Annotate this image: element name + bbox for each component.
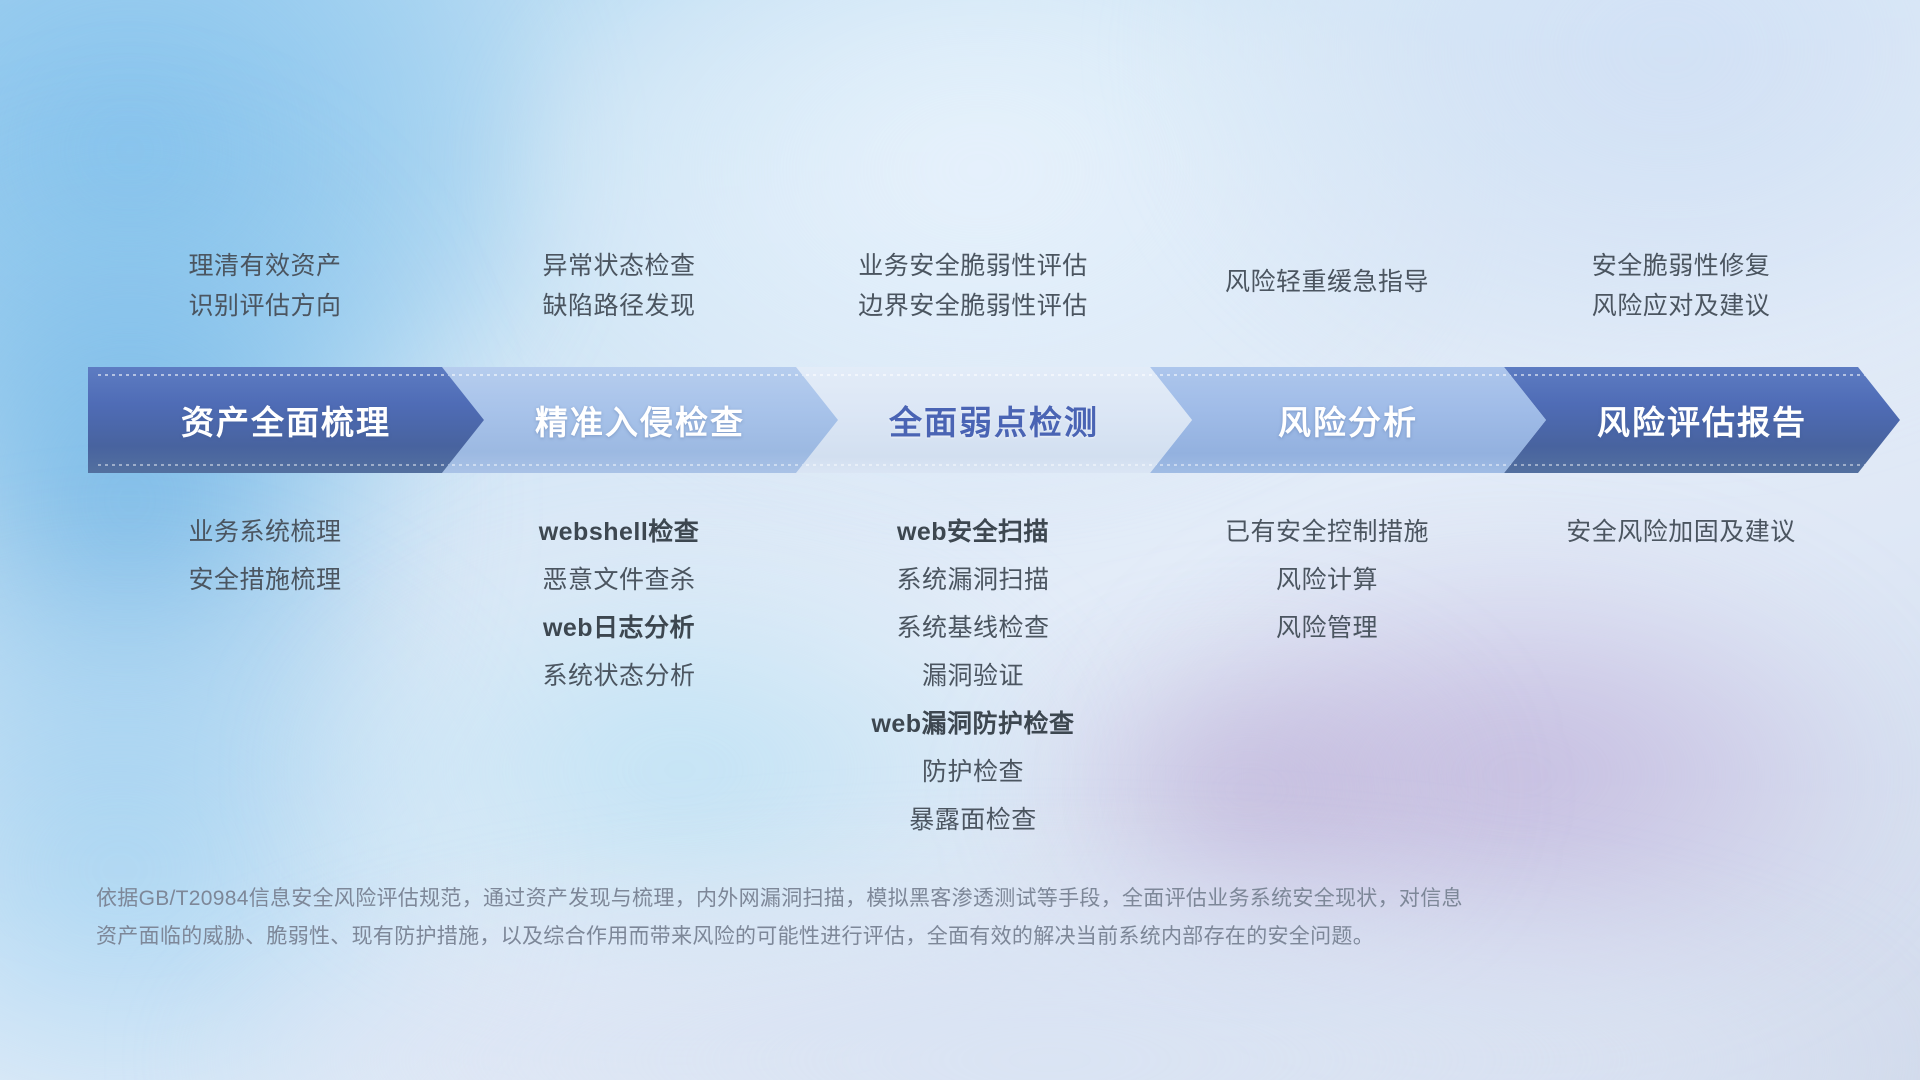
footer-line-2: 资产面临的威胁、脆弱性、现有防护措施，以及综合作用而带来风险的可能性进行评估，全…: [96, 918, 1696, 956]
chevron-label-risk-analysis: 风险分析: [1278, 396, 1418, 444]
top-items-asset-inventory: 理清有效资产识别评估方向: [88, 246, 442, 326]
chevron-label-asset-inventory: 资产全面梳理: [181, 396, 391, 444]
top-item: 识别评估方向: [88, 286, 442, 326]
bottom-item: 已有安全控制措施: [1150, 508, 1504, 556]
top-item: 边界安全脆弱性评估: [796, 286, 1150, 326]
chevron-label-assessment-report: 风险评估报告: [1597, 396, 1807, 444]
top-item: 风险应对及建议: [1504, 286, 1858, 326]
bottom-items-asset-inventory: 业务系统梳理安全措施梳理: [88, 508, 442, 604]
chevron-stage-weakness-detection[interactable]: 全面弱点检测: [796, 367, 1192, 473]
top-item: 异常状态检查: [442, 246, 796, 286]
bottom-item: 风险管理: [1150, 604, 1504, 652]
bottom-item: 系统漏洞扫描: [796, 556, 1150, 604]
bottom-items-assessment-report: 安全风险加固及建议: [1504, 508, 1858, 556]
top-item: 业务安全脆弱性评估: [796, 246, 1150, 286]
slide-canvas: 理清有效资产识别评估方向业务系统梳理安全措施梳理异常状态检查缺陷路径发现webs…: [0, 0, 1920, 1080]
chevron-label-weakness-detection: 全面弱点检测: [889, 396, 1099, 444]
chevron-stage-assessment-report[interactable]: 风险评估报告: [1504, 367, 1900, 473]
bottom-item: web安全扫描: [796, 508, 1150, 556]
chevron-stage-asset-inventory[interactable]: 资产全面梳理: [88, 367, 484, 473]
top-items-weakness-detection: 业务安全脆弱性评估边界安全脆弱性评估: [796, 246, 1150, 326]
bottom-items-intrusion-check: webshell检查恶意文件查杀web日志分析系统状态分析: [442, 508, 796, 700]
bottom-item: 暴露面检查: [796, 796, 1150, 844]
process-chevron-banner: 资产全面梳理精准入侵检查全面弱点检测风险分析风险评估报告: [88, 367, 1858, 473]
bottom-item: webshell检查: [442, 508, 796, 556]
chevron-stage-risk-analysis[interactable]: 风险分析: [1150, 367, 1546, 473]
bottom-item: 安全措施梳理: [88, 556, 442, 604]
bottom-items-risk-analysis: 已有安全控制措施风险计算风险管理: [1150, 508, 1504, 652]
bottom-item: 系统状态分析: [442, 652, 796, 700]
bottom-item: web漏洞防护检查: [796, 700, 1150, 748]
chevron-stage-intrusion-check[interactable]: 精准入侵检查: [442, 367, 838, 473]
top-item: 缺陷路径发现: [442, 286, 796, 326]
top-item: 理清有效资产: [88, 246, 442, 286]
top-item: 安全脆弱性修复: [1504, 246, 1858, 286]
chevron-label-intrusion-check: 精准入侵检查: [535, 396, 745, 444]
bottom-items-weakness-detection: web安全扫描系统漏洞扫描系统基线检查漏洞验证web漏洞防护检查防护检查暴露面检…: [796, 508, 1150, 844]
bottom-item: 风险计算: [1150, 556, 1504, 604]
top-item: 风险轻重缓急指导: [1150, 262, 1504, 302]
bottom-item: 防护检查: [796, 748, 1150, 796]
bottom-item: 业务系统梳理: [88, 508, 442, 556]
bottom-item: 漏洞验证: [796, 652, 1150, 700]
top-items-intrusion-check: 异常状态检查缺陷路径发现: [442, 246, 796, 326]
footer-line-1: 依据GB/T20984信息安全风险评估规范，通过资产发现与梳理，内外网漏洞扫描，…: [96, 880, 1696, 918]
bottom-item: 安全风险加固及建议: [1504, 508, 1858, 556]
top-items-risk-analysis: 风险轻重缓急指导: [1150, 262, 1504, 302]
bottom-item: web日志分析: [442, 604, 796, 652]
top-items-assessment-report: 安全脆弱性修复风险应对及建议: [1504, 246, 1858, 326]
bottom-item: 系统基线检查: [796, 604, 1150, 652]
footer-description: 依据GB/T20984信息安全风险评估规范，通过资产发现与梳理，内外网漏洞扫描，…: [96, 880, 1696, 956]
bottom-item: 恶意文件查杀: [442, 556, 796, 604]
